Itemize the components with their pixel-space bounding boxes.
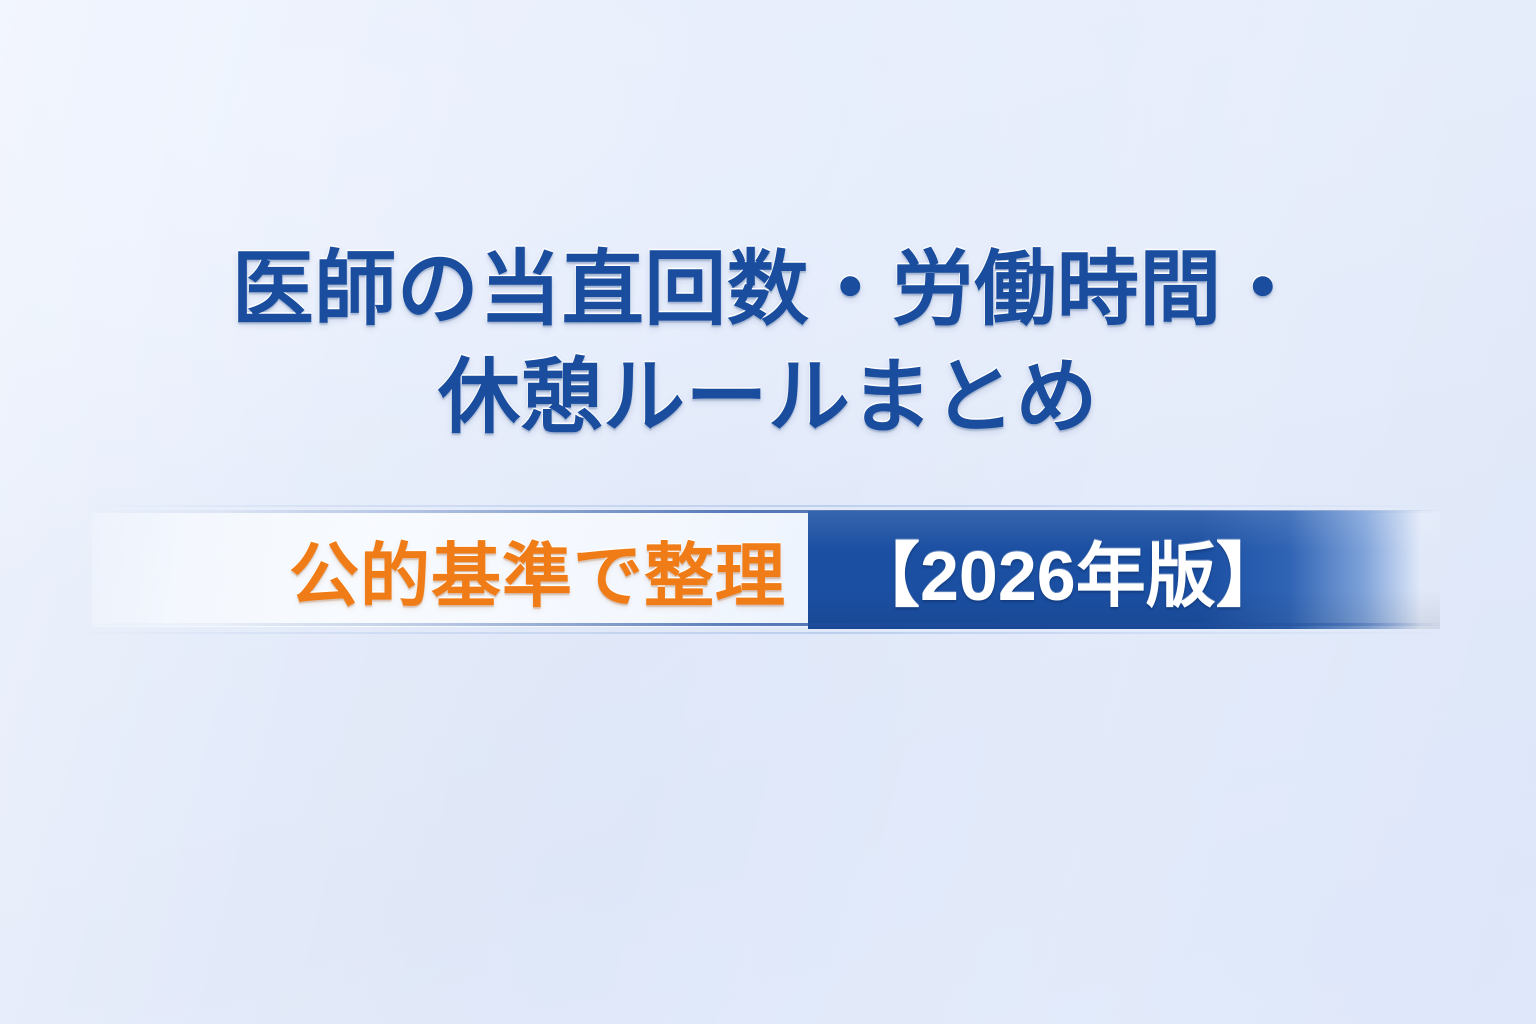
subtitle-bar-rule-bottom [84,623,1440,626]
title-banner: 医師の当直回数・労働時間・ 休憩ルールまとめ 公的基準で整理 【2026年版】 [0,0,1536,1024]
page-title-line-2: 休憩ルールまとめ [0,344,1536,452]
subtitle-bar-hairline-bottom-outer [72,632,1452,634]
subtitle-bar-hairline-top-outer [72,505,1452,507]
year-badge-label: 【2026年版】 [808,511,1368,629]
subtitle-tagline: 公的基準で整理 [92,513,800,627]
page-title-line-1: 医師の当直回数・労働時間・ [0,236,1536,344]
page-title: 医師の当直回数・労働時間・ 休憩ルールまとめ [0,236,1536,452]
subtitle-bar: 公的基準で整理 【2026年版】 [0,505,1536,635]
